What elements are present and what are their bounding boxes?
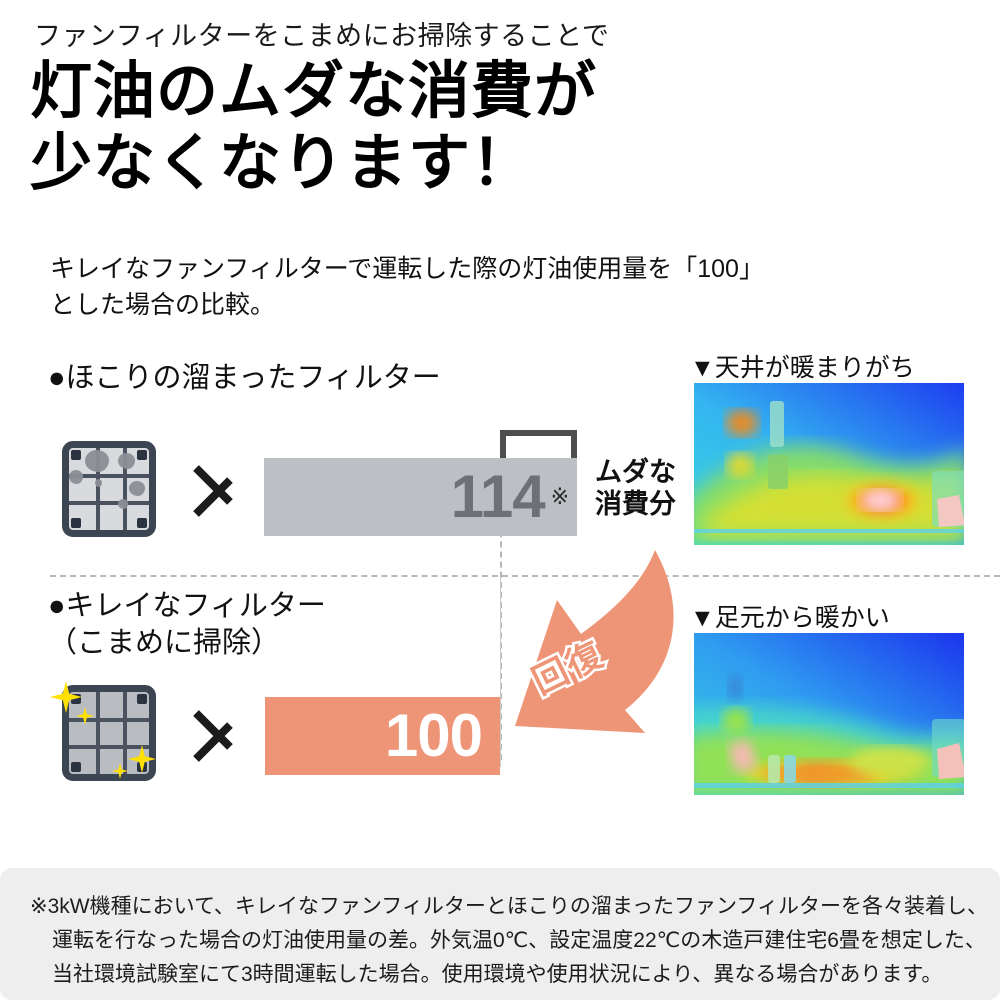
headline-line-2: 少なくなります！ bbox=[30, 128, 597, 200]
clean-usage-bar: 100 bbox=[265, 697, 500, 775]
clean-usage-value: 100 bbox=[385, 706, 482, 766]
kicker-text: ファンフィルターをこまめにお掃除することで bbox=[34, 14, 609, 53]
waste-label: ムダな 消費分 bbox=[595, 457, 676, 521]
footnote-line-1: ※3kW機種において、キレイなファンフィルターとほこりの溜まったファンフィルター… bbox=[30, 890, 972, 924]
chevron-right-icon bbox=[196, 450, 236, 524]
thermal-image-ceiling bbox=[694, 383, 964, 545]
dusty-usage-value: 114 bbox=[451, 467, 545, 527]
dusty-filter-icon bbox=[62, 441, 156, 537]
clean-filter-label: ●キレイなフィルター （こまめに掃除） bbox=[48, 588, 326, 662]
thermal-top-caption: ▼天井が暖まりがち bbox=[690, 348, 915, 384]
subtitle: キレイなファンフィルターで運転した際の灯油使用量を「100」 とした場合の比較。 bbox=[50, 252, 764, 323]
page-title: 灯油のムダな消費が 少なくなります！ bbox=[30, 56, 597, 200]
recovery-arrow: 回復 bbox=[495, 548, 710, 783]
footnote-line-3: 当社環境試験室にて3時間運転した場合。使用環境や使用状況により、異なる場合があり… bbox=[30, 958, 972, 992]
thermal-bottom-caption: ▼足元から暖かい bbox=[690, 598, 890, 634]
footnote-mark: ※ bbox=[551, 484, 569, 510]
clean-filter-label-line-2: （こまめに掃除） bbox=[48, 625, 326, 662]
dusty-filter-label: ●ほこりの溜まったフィルター bbox=[48, 360, 441, 397]
excess-bracket bbox=[500, 430, 577, 460]
footnote-panel: ※3kW機種において、キレイなファンフィルターとほこりの溜まったファンフィルター… bbox=[0, 868, 1000, 1000]
footnote-line-2: 運転を行なった場合の灯油使用量の差。外気温0℃、設定温度22℃の木造戸建住宅6畳… bbox=[30, 924, 972, 958]
clean-filter-label-line-1: ●キレイなフィルター bbox=[48, 588, 326, 625]
chevron-right-icon bbox=[196, 695, 236, 769]
subtitle-line-2: とした場合の比較。 bbox=[50, 288, 764, 324]
headline-line-1: 灯油のムダな消費が bbox=[30, 56, 597, 128]
thermal-image-floor bbox=[694, 633, 964, 795]
waste-label-line-1: ムダな bbox=[595, 457, 676, 489]
waste-label-line-2: 消費分 bbox=[595, 489, 676, 521]
dusty-usage-bar: 114 ※ bbox=[264, 458, 577, 536]
subtitle-line-1: キレイなファンフィルターで運転した際の灯油使用量を「100」 bbox=[50, 252, 764, 288]
